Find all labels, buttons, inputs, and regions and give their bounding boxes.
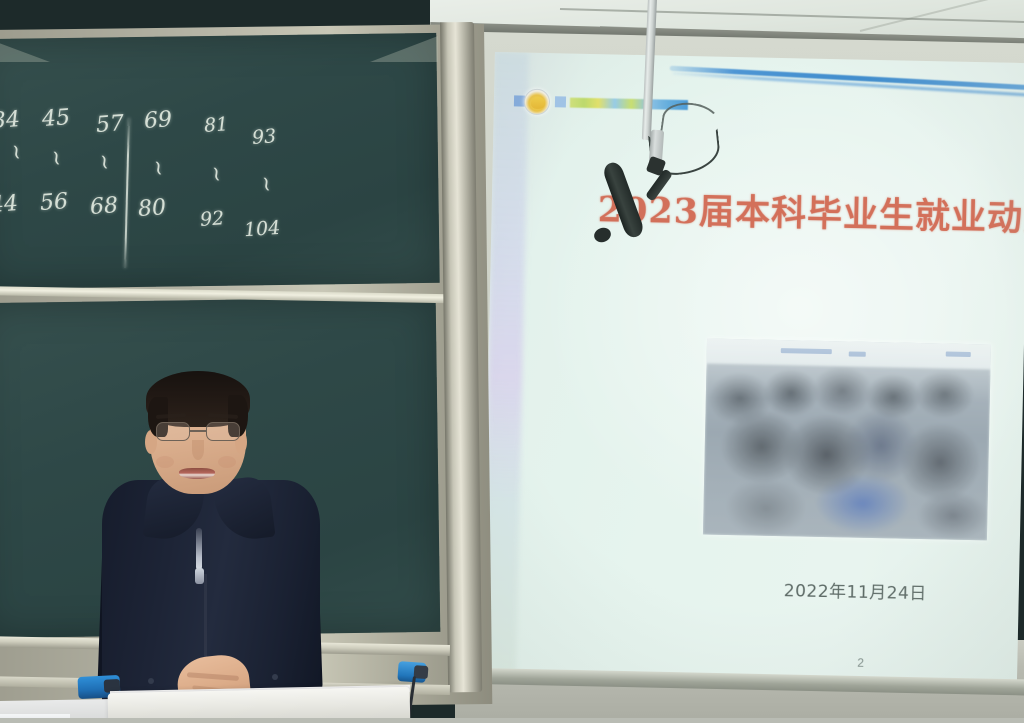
jacket-cuff-button [148,678,154,684]
blackboard-corner-bracket [370,36,438,62]
chalk-tilde: ~ [253,173,280,195]
glasses-lens [156,422,190,441]
jacket-zipper [196,528,202,570]
chalk-number: 45 [41,105,71,132]
glasses-lens [206,422,240,441]
chalk-tilde: ~ [43,147,70,169]
jacket-cuff-button [272,674,278,680]
jacket-zipper-pull [195,568,204,584]
chalk-tilde: ~ [91,151,118,173]
glasses-bridge [190,430,206,432]
chalk-number: 80 [137,195,167,222]
lecturer-mouth [179,468,215,479]
floor-edge [0,718,1024,723]
chalk-number: 69 [143,107,173,134]
lecturer [96,378,326,723]
lecturer-nose [192,440,204,460]
chalk-number: 104 [243,217,281,241]
chalk-number: 44 [0,191,19,218]
screen-vignette [482,52,1024,688]
chalk-number: 57 [95,111,125,138]
chalk-number: 92 [199,207,225,231]
blackboard-corner-bracket [0,36,50,62]
glasses-icon [152,422,244,442]
chalk-number: 81 [203,113,229,137]
lecturer-cheek [218,456,236,468]
chalk-number: 56 [39,189,69,216]
classroom-scene: 2023届本科毕业生就业动员 2022年11月24日 2 34 45 57 ~ … [0,0,1024,723]
chalk-tilde: ~ [145,157,172,179]
chalk-tilde: ~ [3,141,30,163]
lecturer-cheek [156,456,174,468]
chalk-number: 68 [89,193,119,220]
projection-screen: 2023届本科毕业生就业动员 2022年11月24日 2 [482,52,1024,688]
chalk-number: 34 [0,107,21,134]
chalk-tilde: ~ [203,163,230,185]
chalk-number: 93 [251,125,277,149]
